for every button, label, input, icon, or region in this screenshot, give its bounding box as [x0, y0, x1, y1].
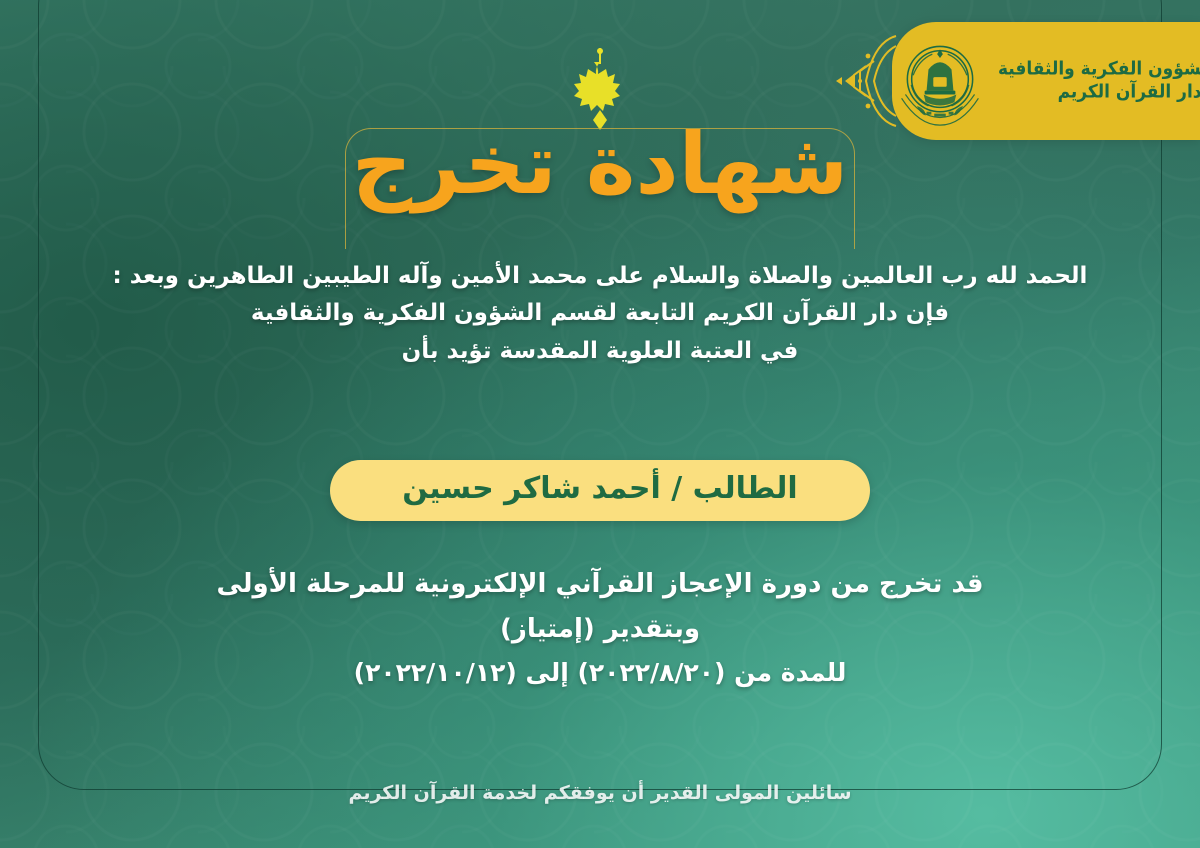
student-name-badge: الطالب / أحمد شاكر حسين	[330, 460, 869, 521]
course-details: قد تخرج من دورة الإعجاز القرآني الإلكترو…	[56, 562, 1144, 694]
body-line-3: في العتبة العلوية المقدسة تؤيد بأن	[56, 333, 1144, 370]
duration-line: للمدة من (٢٠٢٢/٨/٢٠) إلى (٢٠٢٢/١٠/١٢)	[56, 651, 1144, 694]
grade-line: وبتقدير (إمتياز)	[56, 607, 1144, 652]
badge-department-line: قسم الشؤون الفكرية والثقافية	[998, 57, 1200, 82]
page-title: شهادة تخرج	[0, 120, 1200, 208]
body-line-1: الحمد لله رب العالمين والصلاة والسلام عل…	[56, 258, 1144, 295]
badge-text-block: قسم الشؤون الفكرية والثقافية دار القرآن …	[988, 58, 1200, 105]
certificate-body: الحمد لله رب العالمين والصلاة والسلام عل…	[56, 258, 1144, 370]
footer-note: سائلين المولى القدير أن يوفقكم لخدمة الق…	[0, 782, 1200, 804]
graduation-certificate: قسم الشؤون الفكرية والثقافية دار القرآن …	[0, 0, 1200, 848]
badge-house-line: دار القرآن الكريم	[998, 80, 1200, 105]
course-line: قد تخرج من دورة الإعجاز القرآني الإلكترو…	[56, 562, 1144, 607]
student-name-container: الطالب / أحمد شاكر حسين	[0, 460, 1200, 521]
holy-shrine-seal-icon	[892, 31, 988, 131]
body-line-2: فإن دار القرآن الكريم التابعة لقسم الشؤو…	[56, 295, 1144, 332]
